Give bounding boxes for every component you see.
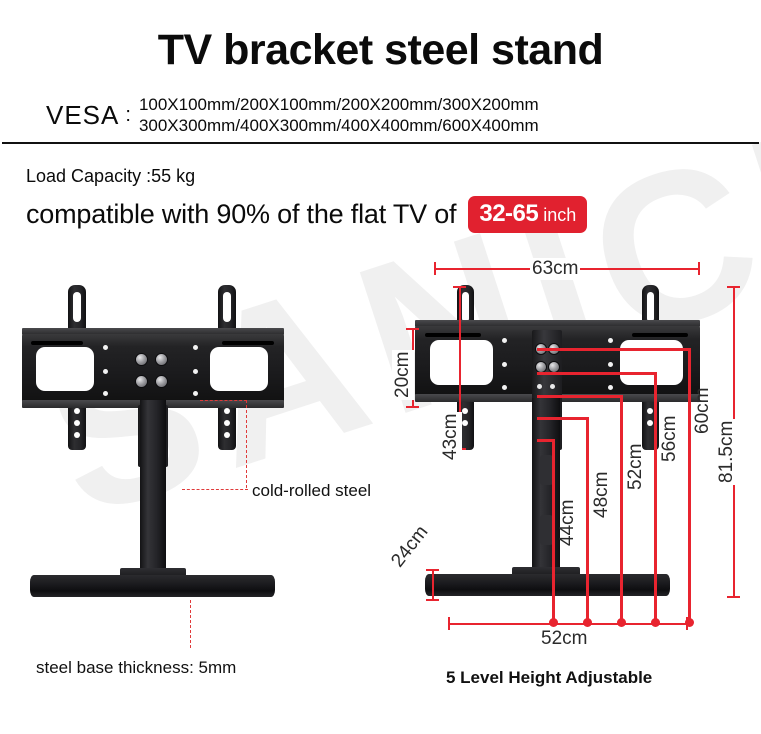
level-leader-v-44: [552, 439, 555, 622]
level-leader-h-60: [537, 348, 690, 351]
r-plate-dot-3: [502, 385, 507, 390]
leader-material-vertical: [246, 400, 247, 488]
dim-cap-total-height-top: [727, 286, 740, 288]
dim-cap-total-height-bottom: [727, 596, 740, 598]
level-dot-44: [549, 618, 558, 627]
r-bracket-cutout-left: [430, 340, 493, 385]
plate-dot-1: [103, 345, 108, 350]
level-leader-v-56: [654, 372, 657, 622]
dim-label-total-height: 81.5cm: [716, 419, 738, 485]
rail-hole-left-7: [74, 432, 80, 438]
level-label-48: 48cm: [591, 472, 613, 518]
leader-base-thickness: [190, 600, 191, 648]
r-bracket-cutout-right: [620, 340, 683, 385]
annotation-cold-rolled-steel: cold-rolled steel: [252, 481, 371, 501]
r-center-bolt-4: [549, 362, 559, 372]
r-rail-hole-left-6: [462, 420, 468, 426]
dim-cap-bracket-total-top: [453, 286, 466, 288]
r-bracket-slot-left: [425, 333, 481, 337]
level-leader-v-60: [688, 348, 691, 622]
dim-cap-bracket-height-bottom: [406, 406, 419, 408]
caption-base-thickness: steel base thickness: 5mm: [36, 658, 236, 678]
dim-cap-bracket-height-top: [406, 328, 419, 330]
caption-height-adjustable: 5 Level Height Adjustable: [446, 668, 652, 688]
r-plate-dot-1: [502, 338, 507, 343]
r-plate-dot-2: [502, 362, 507, 367]
plate-dot-3: [103, 391, 108, 396]
r-base-plate: [425, 574, 670, 596]
rail-hole-right-5: [224, 408, 230, 414]
rail-hole-left-5: [74, 408, 80, 414]
dim-label-width-top: 63cm: [530, 258, 580, 280]
plate-dot-5: [193, 369, 198, 374]
level-dot-60: [685, 618, 694, 627]
level-dot-48: [583, 618, 592, 627]
base-plate: [30, 575, 275, 597]
rail-hole-right-7: [224, 432, 230, 438]
bracket-slot-left-top: [31, 341, 83, 345]
dim-cap-base-depth-bottom: [426, 599, 439, 601]
r-rail-slot-right-1: [647, 292, 654, 322]
rail-hole-left-6: [74, 420, 80, 426]
level-label-60: 60cm: [692, 388, 714, 434]
r-plate-dot-4: [608, 338, 613, 343]
r-rail-hole-right-5: [647, 408, 653, 414]
r-plate-dot-6: [608, 385, 613, 390]
r-bracket-slot-right: [632, 333, 688, 337]
r-rail-hole-left-5: [462, 408, 468, 414]
dim-cap-base-depth-top: [426, 569, 439, 571]
level-dot-52: [617, 618, 626, 627]
r-adjust-hole-2: [550, 384, 555, 389]
center-bolt-3: [136, 376, 147, 387]
rail-slot-right-1: [223, 292, 231, 322]
plate-dot-4: [193, 345, 198, 350]
level-dot-56: [651, 618, 660, 627]
level-label-52: 52cm: [625, 444, 647, 490]
r-center-bolt-3: [536, 362, 546, 372]
center-bolt-1: [136, 354, 147, 365]
support-pole: [140, 400, 166, 580]
rail-hole-right-6: [224, 420, 230, 426]
dim-cap-width-top-left: [434, 262, 436, 275]
level-label-56: 56cm: [659, 416, 681, 462]
bracket-slot-right-top: [222, 341, 274, 345]
bracket-cutout-right: [210, 347, 268, 391]
leader-material-horizontal-top: [200, 400, 247, 401]
rail-slot-left-1: [73, 292, 81, 322]
plate-dot-6: [193, 391, 198, 396]
dim-label-width-base: 52cm: [539, 628, 589, 650]
center-bolt-2: [156, 354, 167, 365]
r-rail-slot-left-1: [462, 292, 469, 322]
level-leader-h-56: [537, 372, 656, 375]
r-support-pole: [532, 398, 560, 578]
level-leader-h-52: [537, 395, 622, 398]
level-leader-v-48: [586, 417, 589, 622]
leader-material-horizontal: [182, 489, 248, 490]
level-leader-v-52: [620, 395, 623, 622]
r-adjust-hole-1: [537, 384, 542, 389]
dim-label-bracket-total: 43cm: [440, 412, 462, 462]
center-bolt-4: [156, 376, 167, 387]
r-rail-hole-right-6: [647, 420, 653, 426]
infographic-canvas: SANICE TV bracket steel stand VESA : 100…: [0, 0, 761, 734]
dim-label-bracket-height: 20cm: [392, 350, 414, 400]
dim-line-base-depth: [432, 569, 434, 601]
bracket-cutout-left: [36, 347, 94, 391]
plate-dot-2: [103, 369, 108, 374]
level-label-44: 44cm: [557, 500, 579, 546]
dim-cap-width-base-left: [448, 617, 450, 630]
r-plate-dot-5: [608, 362, 613, 367]
dim-cap-width-top-right: [698, 262, 700, 275]
level-leader-h-48: [537, 417, 588, 420]
